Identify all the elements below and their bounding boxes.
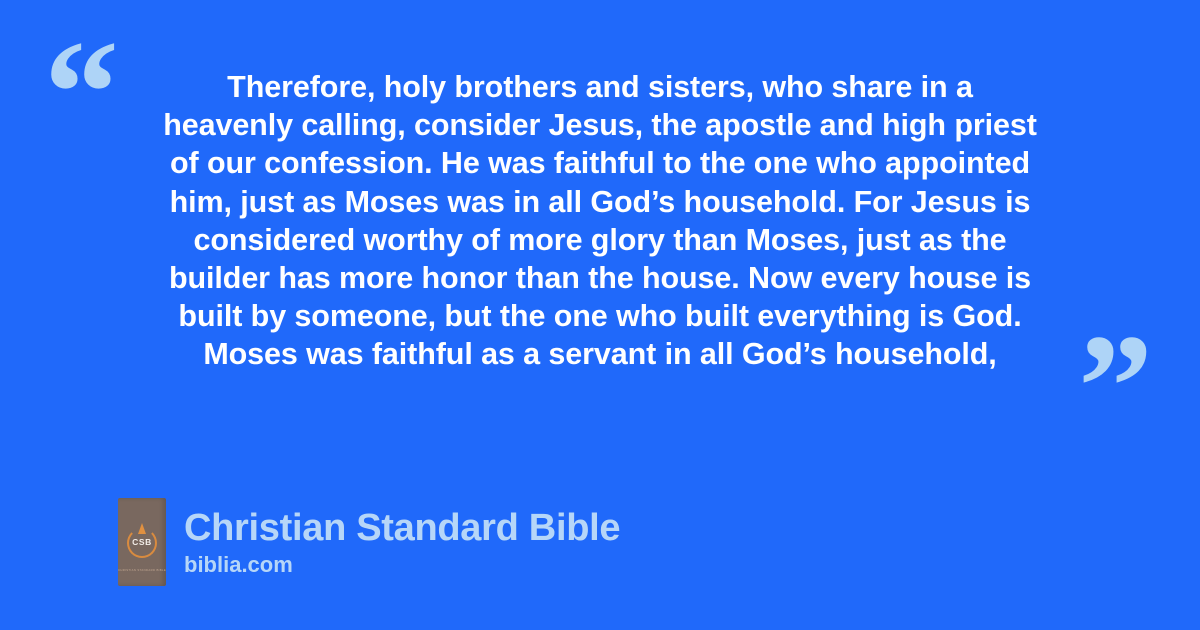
quote-block: Therefore, holy brothers and sisters, wh… xyxy=(110,68,1090,374)
csb-book-cover-icon: CSB CHRISTIAN STANDARD BIBLE xyxy=(118,498,166,586)
quote-card: “ Therefore, holy brothers and sisters, … xyxy=(0,0,1200,630)
source-url[interactable]: biblia.com xyxy=(184,551,620,579)
opening-quote-icon: “ xyxy=(44,18,119,168)
emblem-flame-icon xyxy=(138,523,146,534)
attribution-text-group: Christian Standard Bible biblia.com xyxy=(184,506,620,579)
quote-text: Therefore, holy brothers and sisters, wh… xyxy=(110,68,1090,374)
closing-quote-icon: ” xyxy=(1078,312,1153,462)
attribution-footer: CSB CHRISTIAN STANDARD BIBLE Christian S… xyxy=(118,498,620,586)
csb-emblem-icon: CSB xyxy=(127,528,157,558)
book-cover-subtitle: CHRISTIAN STANDARD BIBLE xyxy=(118,568,166,572)
emblem-label: CSB xyxy=(127,537,157,547)
source-title: Christian Standard Bible xyxy=(184,506,620,550)
